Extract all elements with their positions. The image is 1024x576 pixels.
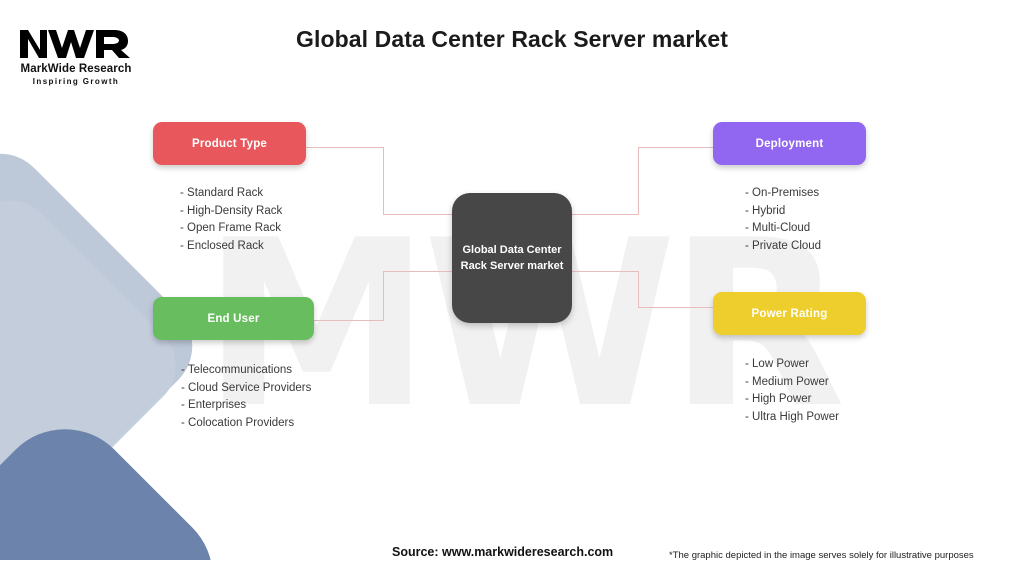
list-item: - Enterprises [181,397,314,415]
list-item: - High-Density Rack [180,203,306,221]
list-item: - Ultra High Power [745,409,866,427]
connector-product-type-h2 [383,214,458,215]
branch-deployment-list: - On-Premises - Hybrid - Multi-Cloud - P… [713,185,866,255]
decorative-shape-mask [0,560,300,576]
connector-power-rating-h2 [566,271,639,272]
branch-end-user: End User - Telecommunications - Cloud Se… [153,297,314,432]
connector-end-user-h2 [383,271,458,272]
branch-power-rating: Power Rating - Low Power - Medium Power … [713,292,866,426]
branch-end-user-list: - Telecommunications - Cloud Service Pro… [153,362,314,432]
footer-disclaimer: *The graphic depicted in the image serve… [669,550,974,561]
list-item: - High Power [745,391,866,409]
list-item: - Low Power [745,356,866,374]
branch-power-rating-header[interactable]: Power Rating [713,292,866,335]
connector-deployment-h1 [638,147,714,148]
infographic-canvas: MWR MarkWide Research Inspiring Growth G… [0,0,1024,576]
list-item: - Private Cloud [745,238,866,256]
list-item: - On-Premises [745,185,866,203]
connector-power-rating-v [638,271,639,308]
connector-product-type-v [383,147,384,215]
branch-power-rating-label: Power Rating [752,308,828,320]
branch-deployment: Deployment - On-Premises - Hybrid - Mult… [713,122,866,255]
brand-tagline: Inspiring Growth [14,76,138,87]
branch-deployment-label: Deployment [756,138,824,150]
list-item: - Cloud Service Providers [181,380,314,398]
connector-end-user-h1 [314,320,384,321]
list-item: - Telecommunications [181,362,314,380]
list-item: - Enclosed Rack [180,238,306,256]
connector-deployment-h2 [566,214,639,215]
connector-power-rating-h1 [638,307,714,308]
list-item: - Standard Rack [180,185,306,203]
branch-deployment-header[interactable]: Deployment [713,122,866,165]
connector-product-type-h1 [306,147,384,148]
branch-end-user-label: End User [207,313,259,325]
center-node-label: Global Data Center Rack Server market [455,242,570,274]
footer-source: Source: www.markwideresearch.com [392,545,613,559]
branch-product-type-list: - Standard Rack - High-Density Rack - Op… [153,185,306,255]
branch-end-user-header[interactable]: End User [153,297,314,340]
connector-end-user-v [383,271,384,321]
branch-product-type: Product Type - Standard Rack - High-Dens… [153,122,306,255]
list-item: - Medium Power [745,374,866,392]
center-node[interactable]: Global Data Center Rack Server market [452,193,572,323]
list-item: - Multi-Cloud [745,220,866,238]
center-node-label-line2: Rack Server market [461,260,564,272]
list-item: - Colocation Providers [181,415,314,433]
connector-deployment-v [638,147,639,215]
brand-name: MarkWide Research [14,63,138,76]
branch-power-rating-list: - Low Power - Medium Power - High Power … [713,356,866,426]
branch-product-type-label: Product Type [192,138,267,150]
page-title: Global Data Center Rack Server market [0,26,1024,53]
list-item: - Hybrid [745,203,866,221]
branch-product-type-header[interactable]: Product Type [153,122,306,165]
list-item: - Open Frame Rack [180,220,306,238]
center-node-label-line1: Global Data Center [462,244,561,256]
